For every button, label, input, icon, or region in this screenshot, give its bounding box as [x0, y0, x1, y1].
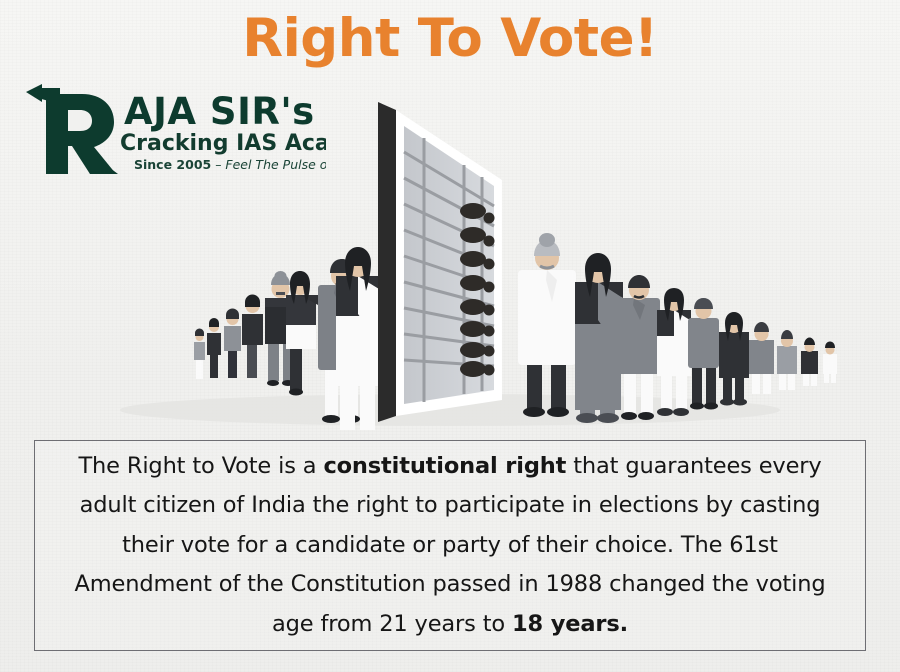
person-right-1-elderly-man-white — [518, 233, 576, 417]
person-right-10 — [823, 342, 837, 384]
evm-voting-machine — [378, 102, 502, 422]
caption-run: that guarantees every adult citizen of I… — [75, 453, 826, 637]
caption-box: The Right to Vote is a constitutional ri… — [34, 440, 866, 651]
caption-run: The Right to Vote is a — [78, 453, 323, 479]
person-right-4-woman-white — [657, 288, 693, 416]
poster-canvas: Right To Vote! AJA SIR's Cracking IAS Ac… — [0, 0, 900, 672]
person-left-6 — [242, 295, 263, 379]
person-left-8 — [207, 318, 221, 378]
person-left-4-woman-dark — [286, 271, 318, 396]
person-right-8 — [777, 330, 797, 390]
person-right-5-man-grey — [688, 298, 719, 410]
caption-emphasis: 18 years. — [512, 611, 628, 637]
person-right-9 — [801, 338, 818, 387]
person-right-6-woman-black — [719, 312, 749, 406]
illustration-voters-queue — [0, 80, 900, 430]
person-right-7 — [749, 322, 774, 394]
page-title: Right To Vote! — [0, 8, 900, 70]
caption-text: The Right to Vote is a constitutional ri… — [52, 447, 848, 645]
person-right-2-woman-grey-sari — [575, 253, 623, 423]
caption-emphasis: constitutional right — [323, 453, 566, 479]
person-left-7 — [224, 309, 241, 379]
right-queue — [518, 233, 837, 423]
person-left-9 — [194, 329, 205, 380]
